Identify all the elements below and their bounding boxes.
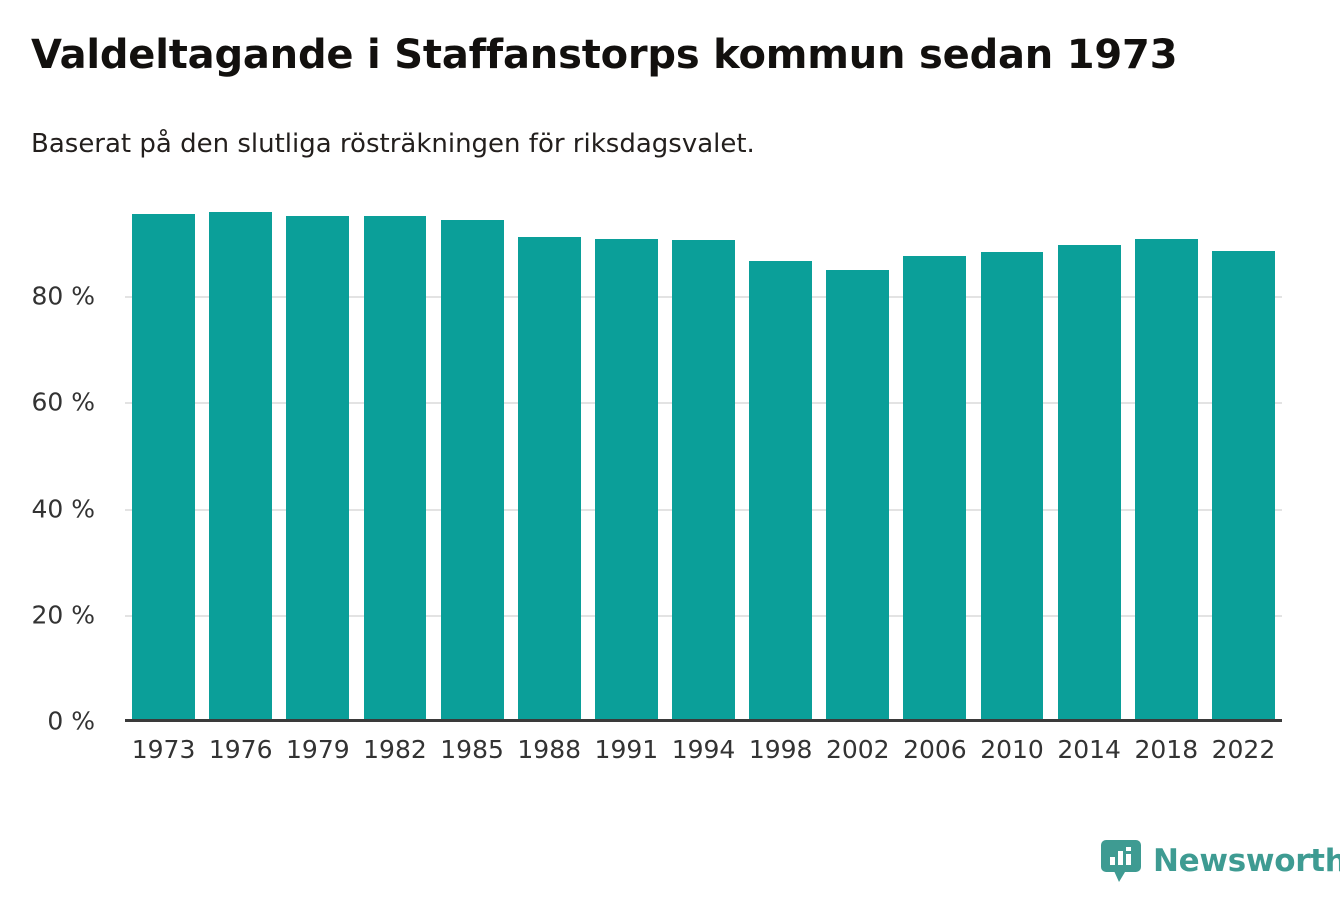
newsworthy-logo: Newsworthy — [1100, 838, 1340, 884]
x-axis-tick-label: 2002 — [826, 735, 890, 764]
bar[interactable] — [286, 216, 349, 722]
bar[interactable] — [364, 216, 427, 722]
x-axis-tick-label: 1982 — [363, 735, 427, 764]
x-axis-line — [125, 719, 1282, 722]
x-axis-tick-label: 1976 — [209, 735, 273, 764]
x-axis-tick-label: 1991 — [595, 735, 659, 764]
chart-plot: 0 %20 %40 %60 %80 % 19731976197919821985… — [0, 0, 1340, 913]
y-axis-tick-label: 60 % — [0, 388, 95, 417]
bar[interactable] — [1058, 245, 1121, 721]
bar[interactable] — [209, 212, 272, 721]
y-axis-tick-label: 20 % — [0, 600, 95, 629]
y-axis-tick-label: 40 % — [0, 494, 95, 523]
y-axis-tick-label: 0 % — [0, 707, 95, 736]
x-axis-tick-label: 2014 — [1057, 735, 1121, 764]
brand-name: Newsworthy — [1153, 846, 1340, 877]
bar[interactable] — [518, 237, 581, 721]
x-axis-tick-label: 1988 — [517, 735, 581, 764]
x-axis-tick-label: 1973 — [132, 735, 196, 764]
bar[interactable] — [1135, 239, 1198, 721]
x-axis-tick-label: 1994 — [672, 735, 736, 764]
bar[interactable] — [903, 256, 966, 721]
bar[interactable] — [441, 220, 504, 721]
bar[interactable] — [1212, 251, 1275, 721]
x-axis-tick-label: 2018 — [1134, 735, 1198, 764]
x-axis-tick-label: 2006 — [903, 735, 967, 764]
x-axis-tick-label: 1998 — [749, 735, 813, 764]
bar[interactable] — [981, 252, 1044, 721]
bar[interactable] — [826, 270, 889, 721]
bar[interactable] — [749, 261, 812, 721]
x-axis-tick-label: 1985 — [440, 735, 504, 764]
x-axis-tick-label: 2022 — [1212, 735, 1276, 764]
y-axis-tick-label: 80 % — [0, 282, 95, 311]
x-axis-tick-label: 2010 — [980, 735, 1044, 764]
x-axis-tick-label: 1979 — [286, 735, 350, 764]
plot-area — [125, 190, 1282, 721]
bar-series — [125, 190, 1282, 721]
bar[interactable] — [672, 240, 735, 721]
chart-page: Valdeltagande i Staffanstorps kommun sed… — [0, 0, 1340, 913]
newsworthy-bubble-chart-icon — [1100, 838, 1142, 884]
bar[interactable] — [595, 239, 658, 721]
bar[interactable] — [132, 214, 195, 721]
